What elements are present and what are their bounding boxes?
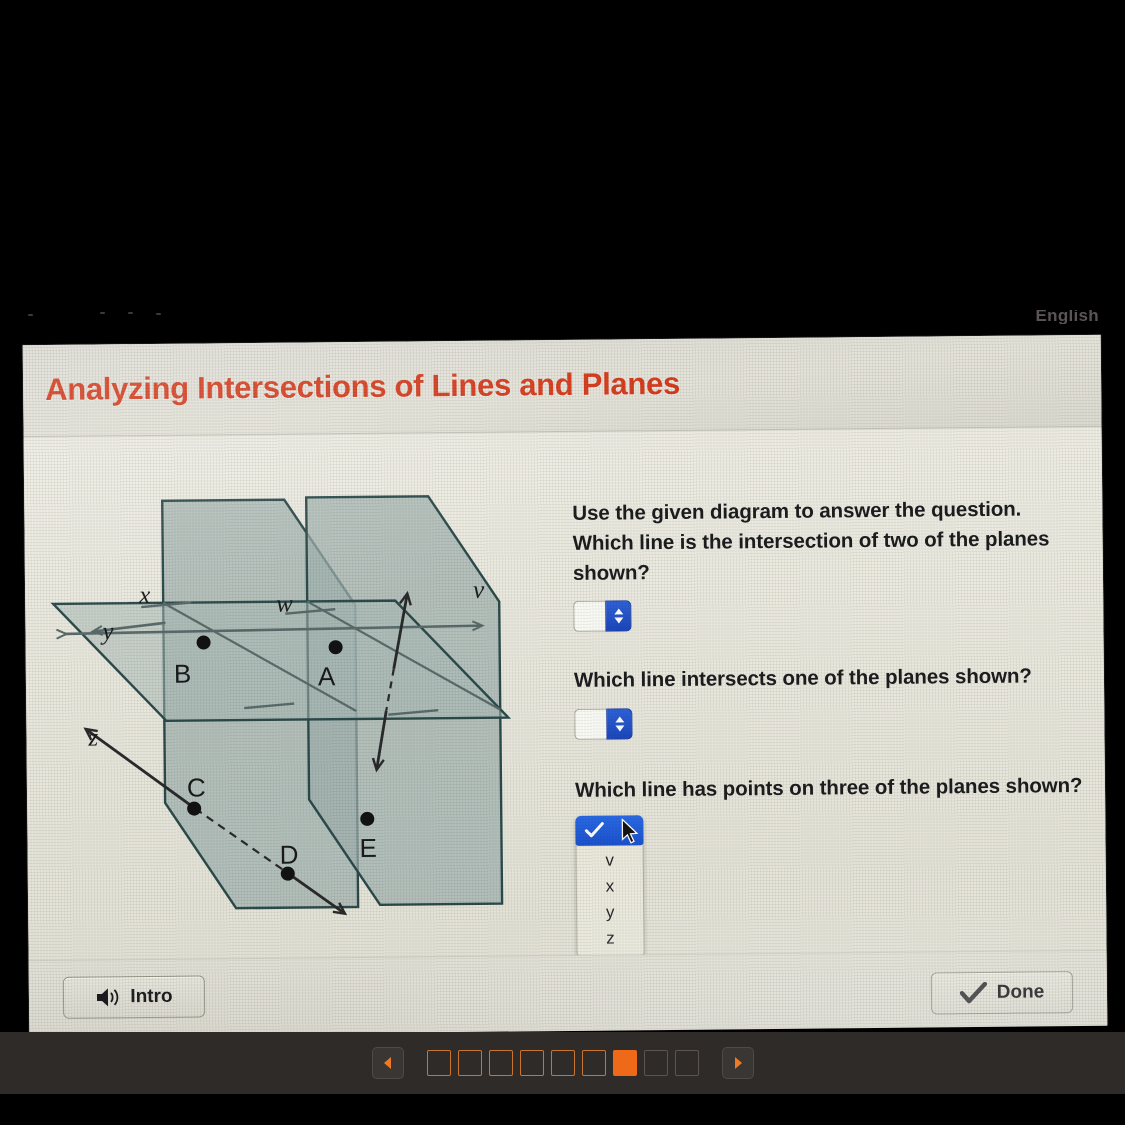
lesson-title-bar: Analyzing Intersections of Lines and Pla… [23, 335, 1102, 437]
speaker-icon [95, 986, 121, 1008]
os-status-dots [28, 312, 208, 322]
done-button-label: Done [997, 981, 1045, 1003]
point-C [187, 801, 201, 815]
label-point-D: D [279, 840, 298, 870]
check-icon [584, 822, 604, 839]
label-point-C: C [187, 772, 206, 802]
pager-step-9[interactable] [675, 1050, 699, 1076]
pager-step-1[interactable] [427, 1050, 451, 1076]
pager-step-6[interactable] [582, 1050, 606, 1076]
page-title: Analyzing Intersections of Lines and Pla… [45, 366, 680, 408]
caret-right-icon [732, 1056, 744, 1070]
label-line-z: z [87, 724, 98, 751]
intro-button-label: Intro [130, 986, 172, 1008]
answer-dropdown-3-open[interactable]: v x y z [575, 815, 644, 958]
answer-dropdown-1[interactable] [573, 601, 631, 633]
dropdown-option-y[interactable]: y [577, 899, 643, 926]
label-point-A: A [318, 661, 336, 691]
label-line-w: w [276, 591, 293, 618]
chevron-updown-icon[interactable] [605, 601, 631, 632]
pager-step-4[interactable] [520, 1050, 544, 1076]
pagination-bar [0, 1032, 1125, 1094]
question-2-block: Which line intersects one of the planes … [574, 661, 1085, 739]
lesson-content: x y w v z B A C D E Use the given diagra… [24, 428, 1107, 960]
pager-step-5[interactable] [551, 1050, 575, 1076]
question-1-text: Which line is the intersection of two of… [573, 524, 1084, 589]
answer-dropdown-1-value[interactable] [573, 601, 605, 632]
geometry-diagram-svg: x y w v z B A C D E [44, 487, 558, 942]
question-column: Use the given diagram to answer the ques… [572, 494, 1086, 963]
chevron-updown-glyph [612, 714, 627, 733]
label-line-v: v [473, 577, 485, 604]
pager-step-2[interactable] [458, 1050, 482, 1076]
dropdown-option-z[interactable]: z [577, 925, 643, 952]
lesson-screen: Analyzing Intersections of Lines and Pla… [23, 335, 1108, 1035]
screenshot-root: English Analyzing Intersections of Lines… [0, 0, 1125, 1125]
question-2-text: Which line intersects one of the planes … [574, 661, 1084, 696]
pager-next-button[interactable] [722, 1047, 754, 1079]
chevron-updown-glyph [611, 607, 626, 626]
question-intro-block: Use the given diagram to answer the ques… [572, 494, 1083, 632]
point-E [360, 812, 374, 826]
label-line-x: x [138, 582, 150, 609]
question-3-block: Which line has points on three of the pl… [575, 771, 1087, 958]
label-point-B: B [174, 659, 192, 689]
pager-step-8[interactable] [644, 1050, 668, 1076]
point-B [197, 635, 211, 649]
pager-step-3[interactable] [489, 1050, 513, 1076]
dropdown-option-x[interactable]: x [577, 873, 643, 900]
chevron-updown-icon[interactable] [606, 708, 632, 739]
caret-left-icon [382, 1056, 394, 1070]
dropdown-option-selected[interactable] [575, 815, 643, 846]
checkmark-icon [960, 982, 988, 1004]
lesson-button-bar: Intro Done [29, 950, 1108, 1036]
geometry-diagram: x y w v z B A C D E [44, 487, 558, 942]
intro-button[interactable]: Intro [63, 975, 205, 1018]
done-button[interactable]: Done [931, 971, 1073, 1014]
answer-dropdown-2[interactable] [574, 708, 632, 740]
question-3-text: Which line has points on three of the pl… [575, 771, 1085, 806]
label-point-E: E [359, 833, 377, 863]
os-language-label: English [1036, 310, 1100, 324]
pager-step-7[interactable] [613, 1050, 637, 1076]
question-intro-text: Use the given diagram to answer the ques… [572, 494, 1082, 529]
dropdown-option-v[interactable]: v [577, 847, 643, 874]
point-A [329, 640, 343, 654]
label-line-y: y [99, 618, 114, 645]
answer-dropdown-2-value[interactable] [574, 708, 606, 739]
pager-prev-button[interactable] [372, 1047, 404, 1079]
